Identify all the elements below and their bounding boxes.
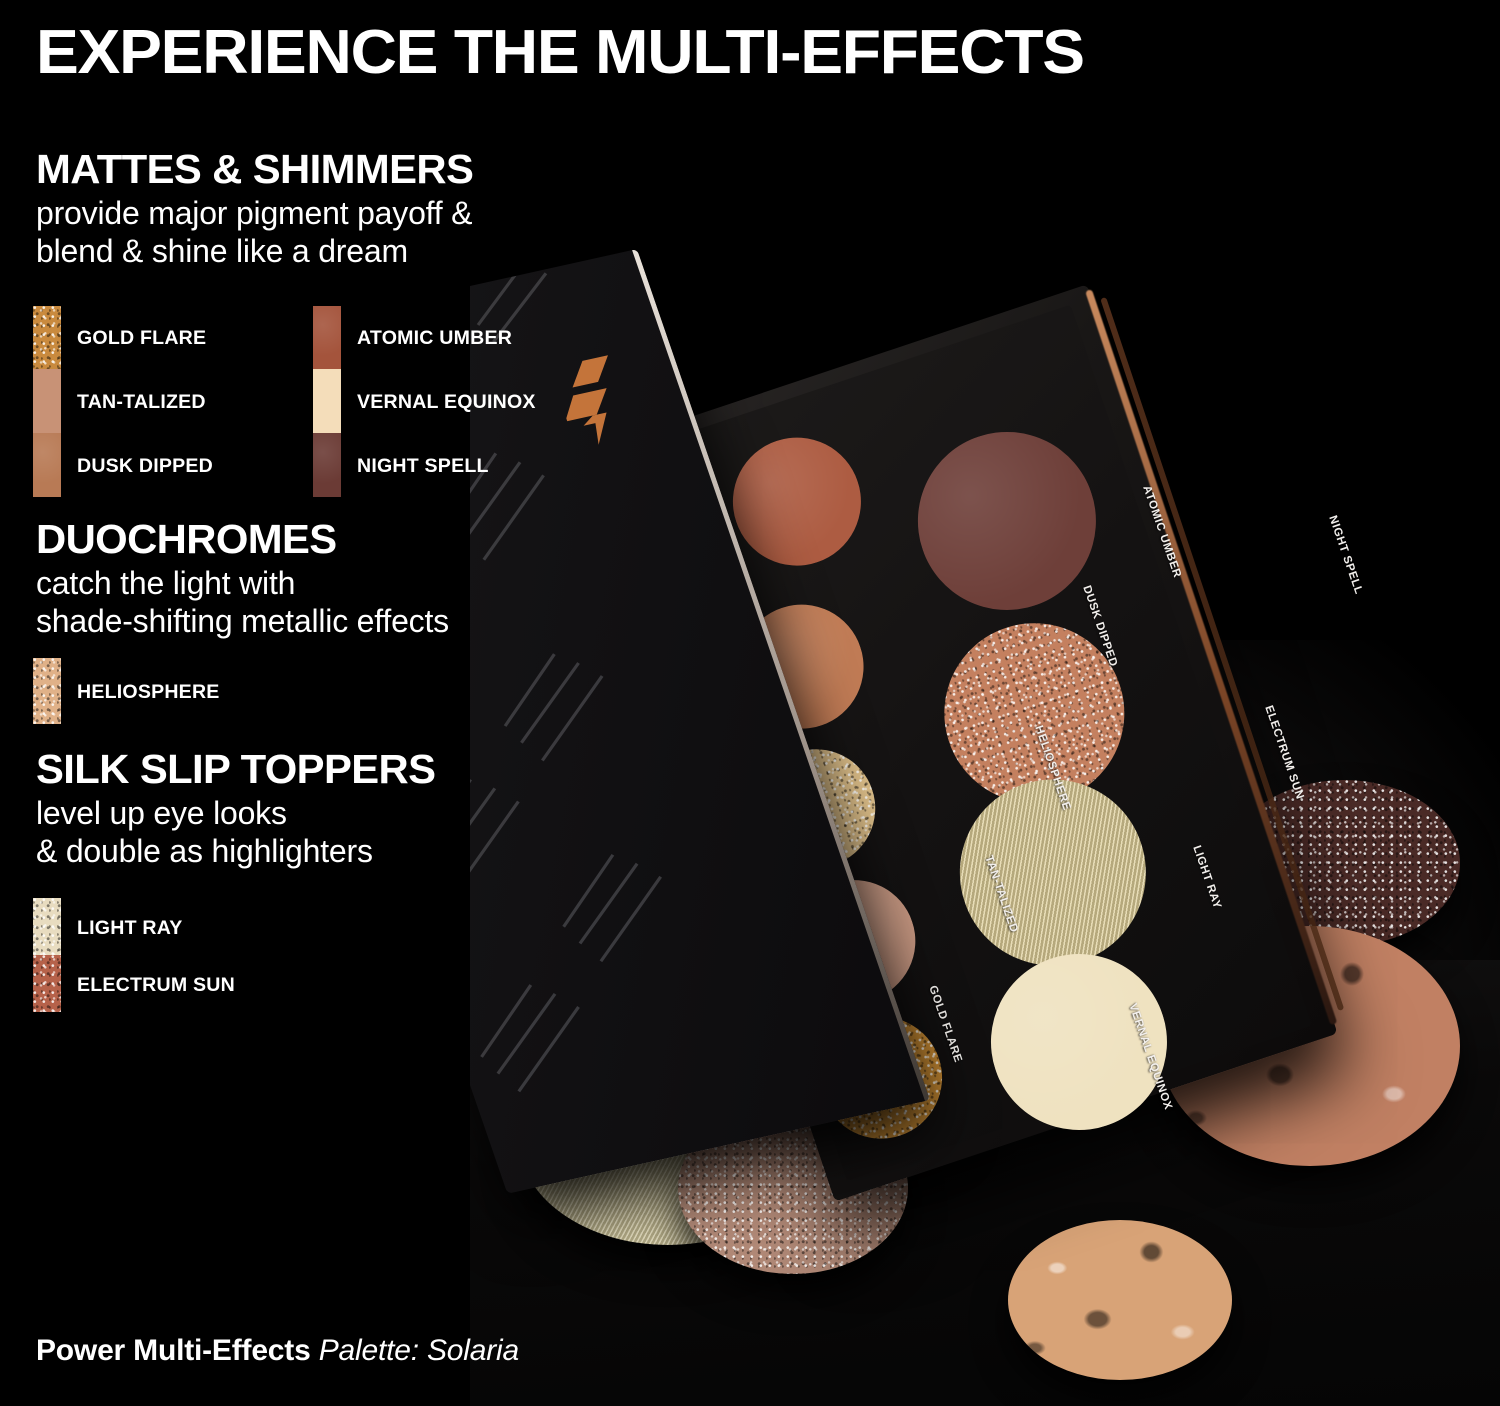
swatch-label-night-spell: NIGHT SPELL (357, 456, 489, 478)
swatch-dusk-dipped (33, 433, 61, 497)
swatch-heliosphere (33, 658, 61, 724)
section-body-silk-slip-toppers-line1: level up eye looks (36, 795, 428, 833)
swatch-label-gold-flare: GOLD FLARE (77, 328, 206, 350)
section-title-silk-slip-toppers: SILK SLIP TOPPERS (36, 748, 435, 791)
section-body-silk-slip-toppers-line2: & double as highlighters (36, 833, 428, 871)
swatch-label-electrum-sun: ELECTRUM SUN (77, 975, 235, 997)
swatch-bar-left (33, 306, 61, 497)
swatch-label-tan-talized: TAN-TALIZED (77, 392, 206, 414)
loose-pan-nude-powder (1008, 1220, 1232, 1380)
swatch-light-ray (33, 898, 61, 955)
section-body-mattes-shimmers-line2: blend & shine like a dream (36, 233, 472, 271)
section-duochromes: DUOCHROMES catch the light with shade-sh… (36, 518, 449, 641)
section-body-duochromes-line2: shade-shifting metallic effects (36, 603, 449, 641)
pan-label-night-spell: NIGHT SPELL (1326, 514, 1364, 596)
swatch-bar-toppers (33, 898, 61, 1012)
section-body-mattes-shimmers-line1: provide major pigment payoff & (36, 195, 472, 233)
swatch-vernal-equinox (313, 369, 341, 433)
product-caption-name: Power Multi-Effects (36, 1334, 311, 1367)
swatch-night-spell (313, 433, 341, 497)
section-body-duochromes-line1: catch the light with (36, 565, 449, 603)
section-silk-slip-toppers: SILK SLIP TOPPERS level up eye looks & d… (36, 748, 428, 871)
page-title: EXPERIENCE THE MULTI-EFFECTS (36, 22, 1485, 84)
section-mattes-shimmers: MATTES & SHIMMERS provide major pigment … (36, 148, 472, 271)
swatch-bar-right (313, 306, 341, 497)
swatch-label-light-ray: LIGHT RAY (77, 918, 183, 940)
product-caption: Power Multi-Effects Palette: Solaria (36, 1334, 519, 1368)
swatch-label-atomic-umber: ATOMIC UMBER (357, 328, 512, 350)
swatch-label-dusk-dipped: DUSK DIPPED (77, 456, 213, 478)
swatch-gold-flare (33, 306, 61, 369)
swatch-label-vernal-equinox: VERNAL EQUINOX (357, 392, 536, 414)
marketing-copy: EXPERIENCE THE MULTI-EFFECTS MATTES & SH… (0, 0, 700, 1406)
swatch-bar-duochromes (33, 658, 61, 724)
section-title-mattes-shimmers: MATTES & SHIMMERS (36, 148, 481, 191)
swatch-atomic-umber (313, 306, 341, 369)
swatch-electrum-sun (33, 955, 61, 1012)
section-title-duochromes: DUOCHROMES (36, 518, 457, 561)
product-caption-variant: Palette: Solaria (319, 1334, 519, 1367)
swatch-label-heliosphere: HELIOSPHERE (77, 682, 220, 704)
swatch-tan-talized (33, 369, 61, 433)
poster-canvas: ATOMIC UMBER NIGHT SPELL DUSK DIPPED ELE… (0, 0, 1500, 1406)
